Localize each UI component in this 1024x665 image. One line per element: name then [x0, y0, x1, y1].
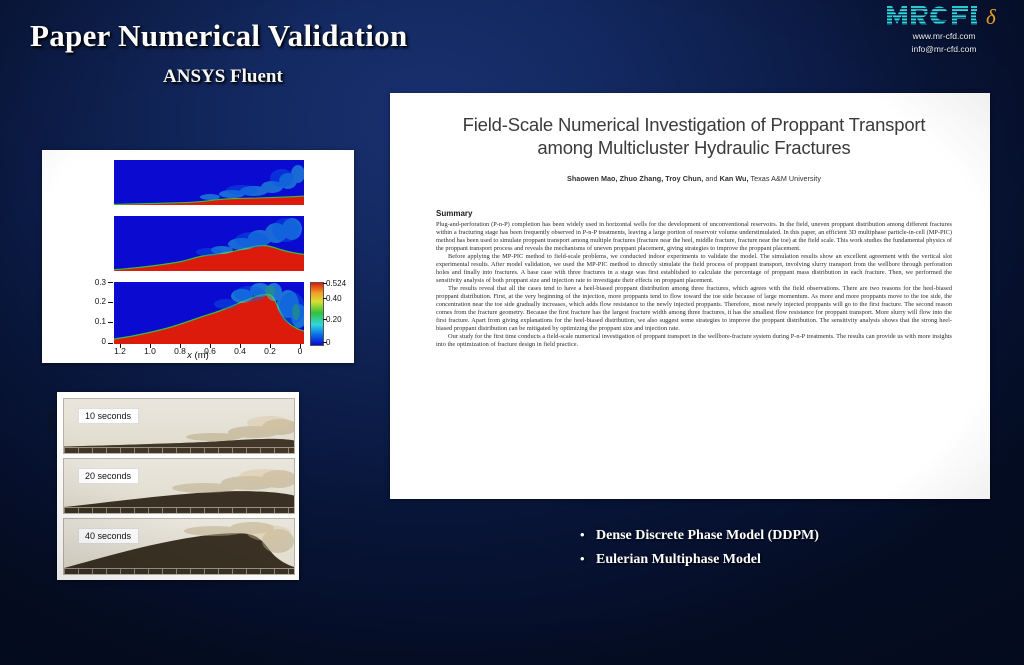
suspension-cloud-40s	[114, 282, 304, 344]
bullet-label-ddpm: Dense Discrete Phase Model (DDPM)	[596, 528, 819, 544]
photo-ruler-20s	[64, 507, 294, 513]
experiment-frame-20s: 20 seconds	[63, 458, 295, 514]
suspension-cloud-10s	[114, 160, 304, 205]
colorbar-tick-0: 0.524	[326, 279, 346, 288]
paper-authors-primary: Shaowen Mao, Zhuo Zhang, Troy Chun,	[567, 174, 703, 183]
experiment-label-20s: 20 seconds	[78, 468, 139, 484]
page-title: Paper Numerical Validation	[30, 18, 408, 54]
chart-y-axis-label: z (m)	[45, 412, 55, 433]
bullet-item-ddpm: • Dense Discrete Phase Model (DDPM)	[580, 528, 819, 544]
logo-mark: δ	[874, 3, 1014, 29]
mr-cfd-logo-icon: δ	[885, 3, 1003, 29]
experiment-label-10s: 10 seconds	[78, 408, 139, 424]
bullet-item-eulerian: • Eulerian Multiphase Model	[580, 552, 819, 568]
paper-summary-body: Plug-and-perforation (P-n-P) completion …	[436, 221, 952, 349]
paper-authors-conjunction: and	[703, 174, 719, 183]
cfd-contour-figure: z (m) 0.3 0.2 0.1 0 1.2 1.0 0.8 0.6 0.4 …	[42, 150, 354, 363]
suspension-cloud-20s	[114, 216, 304, 271]
paper-authors: Shaowen Mao, Zhuo Zhang, Troy Chun, and …	[436, 174, 952, 183]
colorbar-tick-1: 0.40	[326, 294, 342, 303]
paper-summary-heading: Summary	[436, 209, 952, 218]
colorbar-tick-2: 0.20	[326, 315, 342, 324]
logo-website[interactable]: www.mr-cfd.com	[874, 31, 1014, 42]
experiment-frame-10s: 10 seconds	[63, 398, 295, 454]
contour-panel-40s	[114, 282, 304, 344]
chart-x-axis-label: x (m)	[42, 350, 354, 361]
chart-colorbar	[310, 282, 324, 346]
photo-ruler-40s	[64, 568, 294, 574]
brand-logo[interactable]: δ www.mr-cfd.com info@mr-cfd.com	[874, 3, 1014, 54]
bullet-label-eulerian: Eulerian Multiphase Model	[596, 552, 761, 568]
y-tick-0: 0	[84, 337, 106, 346]
experiment-label-40s: 40 seconds	[78, 528, 139, 544]
paper-document: Field-Scale Numerical Investigation of P…	[390, 93, 990, 499]
photo-ruler-10s	[64, 447, 294, 453]
logo-email[interactable]: info@mr-cfd.com	[874, 44, 1014, 55]
bullet-marker-icon: •	[580, 552, 596, 565]
y-tick-2: 0.2	[84, 297, 106, 306]
paper-authors-secondary: Kan Wu,	[720, 174, 749, 183]
paper-title: Field-Scale Numerical Investigation of P…	[436, 113, 952, 159]
experiment-frame-40s: 40 seconds	[63, 518, 295, 575]
paper-affiliation: Texas A&M University	[749, 174, 821, 183]
bullet-marker-icon: •	[580, 528, 596, 541]
experiment-photo-figure: 10 seconds 20 seconds	[57, 392, 299, 580]
slide-canvas: Paper Numerical Validation ANSYS Fluent …	[0, 0, 1024, 665]
paper-paragraph-3: The results reveal that all the cases te…	[436, 285, 952, 333]
y-tick-3: 0.3	[84, 278, 106, 287]
contour-panel-10s	[114, 160, 304, 205]
colorbar-tick-3: 0	[326, 338, 330, 347]
model-bullet-list: • Dense Discrete Phase Model (DDPM) • Eu…	[580, 528, 819, 576]
paper-paragraph-1: Plug-and-perforation (P-n-P) completion …	[436, 221, 952, 253]
contour-panel-20s	[114, 216, 304, 271]
paper-paragraph-4: Our study for the first time conducts a …	[436, 333, 952, 349]
y-tick-1: 0.1	[84, 317, 106, 326]
page-subtitle: ANSYS Fluent	[163, 66, 283, 88]
paper-paragraph-2: Before applying the MP-PIC method to fie…	[436, 253, 952, 285]
svg-text:δ: δ	[986, 5, 997, 29]
